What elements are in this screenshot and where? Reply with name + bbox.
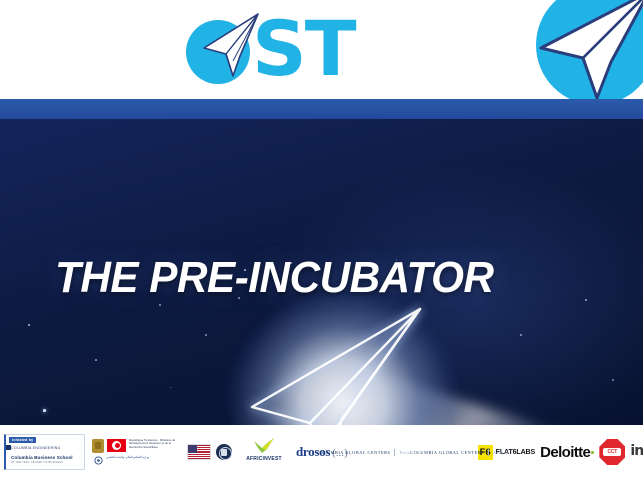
columbia-engineering-text: COLUMBIA ENGINEERING xyxy=(11,446,61,450)
cgc-divider-2 xyxy=(488,449,489,456)
logo-innovi[interactable]: innov xyxy=(630,440,643,464)
cgc-row-amman: COLUMBIA GLOBAL CENTERS Amman xyxy=(410,447,509,458)
cgc-row-paris: COLUMBIA GLOBAL CENTERS Paris xyxy=(317,447,411,458)
tunisia-ministry-text: République Tunisienne · Ministère de l'E… xyxy=(129,439,181,449)
poster-slide: ST xyxy=(0,0,643,482)
tunisia-secondary-icon xyxy=(94,456,103,465)
cgc-city-1: Paris xyxy=(399,450,410,455)
africinvest-bird-icon xyxy=(253,437,275,455)
logo-us-flag[interactable] xyxy=(187,444,211,460)
logo-africinvest[interactable]: AFRICINVEST xyxy=(237,436,291,468)
glowing-paper-plane-icon xyxy=(238,297,448,425)
tunisia-crest-icon xyxy=(92,439,104,453)
logo-columbia-global-centers[interactable]: COLUMBIA GLOBAL CENTERS Paris COLUMBIA G… xyxy=(353,440,473,464)
initiated-by-tag: Initiated by xyxy=(9,437,36,443)
tunisia-flag-icon xyxy=(107,439,126,452)
accent-band xyxy=(0,99,643,119)
deloitte-dot-icon xyxy=(591,451,594,454)
logo-octagon-badge[interactable]: CCT xyxy=(599,439,625,465)
columbia-crown-icon xyxy=(6,445,11,450)
paper-plane-circle-icon xyxy=(521,0,643,99)
ost-st-text: ST xyxy=(252,11,355,87)
sponsor-footer: Initiated by COLUMBIA ENGINEERING Columb… xyxy=(0,425,643,482)
sponsor-logo-row: Initiated by COLUMBIA ENGINEERING Columb… xyxy=(4,431,639,473)
logo-deloitte[interactable]: Deloitte xyxy=(540,444,594,461)
cgc-divider-1 xyxy=(394,449,395,456)
cgc-name-2: COLUMBIA GLOBAL CENTERS xyxy=(410,450,484,455)
logo-us-embassy-seal[interactable] xyxy=(216,444,232,460)
cgc-name-1: COLUMBIA GLOBAL CENTERS xyxy=(317,450,391,455)
tunisia-arabic-text: وزارة التعليم العالي والبحث العلمي xyxy=(106,456,182,460)
columbia-tagline-text: AT THE VERY CENTER OF BUSINESS xyxy=(11,461,63,464)
columbia-business-school-text: Columbia Business School xyxy=(11,455,73,460)
hero-section: THE PRE-INCUBATOR 2ND COHORT www.open-st… xyxy=(0,119,643,425)
deloitte-label: Deloitte xyxy=(540,444,590,461)
header-bar: ST xyxy=(0,0,643,99)
ost-logo[interactable]: ST xyxy=(186,12,386,90)
logo-tunisia-ministry[interactable]: République Tunisienne · Ministère de l'E… xyxy=(90,435,182,469)
africinvest-label: AFRICINVEST xyxy=(237,456,291,462)
innovi-label: innov xyxy=(630,443,643,459)
us-flag-canton xyxy=(188,445,197,453)
page-title: THE PRE-INCUBATOR xyxy=(55,255,493,301)
octagon-label: CCT xyxy=(603,449,621,455)
logo-columbia-initiated-by[interactable]: Initiated by COLUMBIA ENGINEERING Columb… xyxy=(4,434,85,470)
cgc-city-2: Amman xyxy=(493,450,509,455)
